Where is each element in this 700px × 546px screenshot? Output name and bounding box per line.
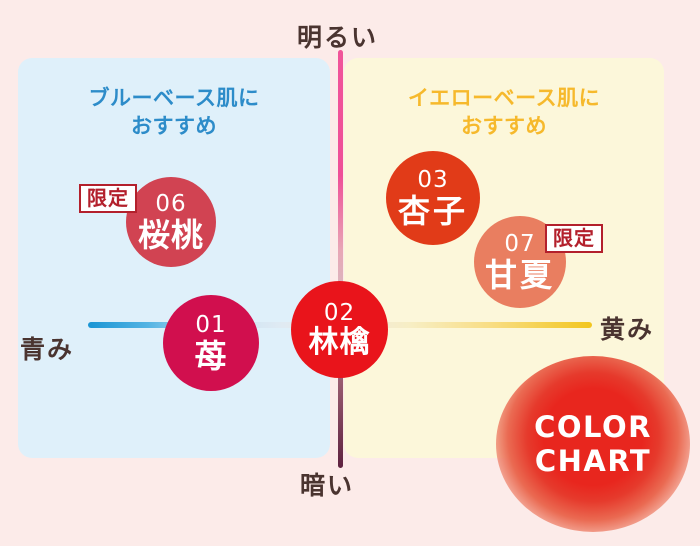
blue-base-caption: ブルーベース肌に おすすめ — [18, 84, 330, 141]
shade-name: 桜桃 — [138, 219, 204, 251]
shade-circle-01[interactable]: 01 苺 — [163, 295, 259, 391]
limited-badge-07: 限定 — [545, 224, 603, 253]
shade-name: 杏子 — [398, 195, 468, 227]
shade-name: 林檎 — [309, 328, 371, 358]
axis-label-dark: 暗い — [300, 466, 354, 502]
watermark-line-2: CHART — [535, 444, 651, 478]
shade-number: 01 — [195, 314, 226, 337]
shade-circle-03[interactable]: 03 杏子 — [386, 151, 480, 245]
yellow-base-caption: イエローベース肌に おすすめ — [344, 84, 664, 141]
vertical-axis-line — [338, 50, 343, 468]
shade-number: 07 — [504, 233, 535, 256]
shade-name: 甘夏 — [485, 259, 555, 291]
axis-label-yellowness: 黄み — [600, 310, 654, 346]
shade-number: 03 — [417, 169, 448, 192]
color-chart-canvas: ブルーベース肌に おすすめ イエローベース肌に おすすめ 明るい 暗い 青み 黄… — [0, 0, 700, 546]
axis-label-blueness: 青み — [20, 330, 74, 366]
shade-number: 06 — [155, 193, 186, 216]
shade-number: 02 — [324, 302, 355, 325]
axis-label-bright: 明るい — [297, 18, 378, 54]
shade-name: 苺 — [194, 340, 227, 372]
limited-badge-06: 限定 — [79, 184, 137, 213]
color-chart-watermark: COLOR CHART — [496, 356, 690, 532]
watermark-line-1: COLOR — [534, 410, 652, 444]
shade-circle-06[interactable]: 06 桜桃 — [126, 177, 216, 267]
shade-circle-02[interactable]: 02 林檎 — [291, 281, 388, 378]
